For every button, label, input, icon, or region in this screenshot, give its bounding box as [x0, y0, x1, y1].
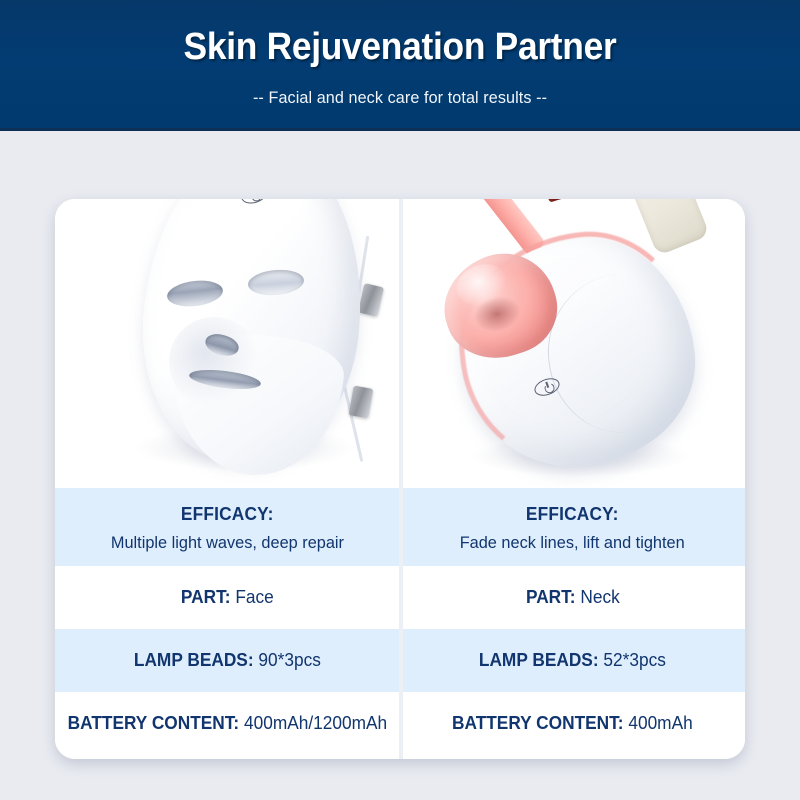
- spec-value: Fade neck lines, lift and tighten: [460, 533, 685, 553]
- spec-row-lamp-beads: LAMP BEADS: 52*3pcs: [400, 629, 745, 692]
- spec-value: 52*3pcs: [604, 650, 666, 670]
- spec-label: PART:: [526, 587, 576, 607]
- strap-clip: [358, 283, 384, 317]
- face-mask-illustration: [93, 199, 423, 499]
- spec-row-part: PART: Face: [55, 566, 400, 629]
- spec-row-efficacy: EFFICACY: Multiple light waves, deep rep…: [55, 488, 400, 566]
- product-column-neck-device: EFFICACY: Fade neck lines, lift and tigh…: [400, 199, 745, 759]
- strap-buckle: [539, 199, 593, 206]
- spec-list-neck-device: EFFICACY: Fade neck lines, lift and tigh…: [400, 488, 745, 759]
- product-column-face-mask: EFFICACY: Multiple light waves, deep rep…: [55, 199, 400, 759]
- spec-inline: BATTERY CONTENT: 400mAh: [452, 713, 693, 734]
- spec-inline: LAMP BEADS: 90*3pcs: [134, 650, 321, 671]
- spec-value: Face: [235, 587, 273, 607]
- spec-inline: BATTERY CONTENT: 400mAh/1200mAh: [68, 713, 387, 734]
- spec-row-lamp-beads: LAMP BEADS: 90*3pcs: [55, 629, 400, 692]
- column-divider: [399, 199, 403, 759]
- product-image-neck-device: [400, 199, 745, 488]
- spec-value: 90*3pcs: [259, 650, 321, 670]
- spec-row-part: PART: Neck: [400, 566, 745, 629]
- spec-row-efficacy: EFFICACY: Fade neck lines, lift and tigh…: [400, 488, 745, 566]
- spec-list-face-mask: EFFICACY: Multiple light waves, deep rep…: [55, 488, 400, 759]
- spec-value: 400mAh: [628, 713, 692, 733]
- page-header: Skin Rejuvenation Partner -- Facial and …: [0, 0, 800, 131]
- spec-label: PART:: [181, 587, 231, 607]
- product-comparison-card: EFFICACY: Multiple light waves, deep rep…: [55, 199, 745, 759]
- spec-label: LAMP BEADS:: [134, 650, 254, 670]
- spec-value: 400mAh/1200mAh: [244, 713, 387, 733]
- spec-value: Neck: [580, 587, 619, 607]
- spec-row-battery-content: BATTERY CONTENT: 400mAh: [400, 692, 745, 755]
- page-title: Skin Rejuvenation Partner: [28, 26, 772, 69]
- spec-label: LAMP BEADS:: [479, 650, 599, 670]
- spec-label: BATTERY CONTENT:: [452, 713, 624, 733]
- spec-label: BATTERY CONTENT:: [68, 713, 240, 733]
- page-subtitle: -- Facial and neck care for total result…: [20, 88, 780, 108]
- spec-label: EFFICACY:: [181, 504, 274, 525]
- spec-inline: PART: Neck: [526, 587, 620, 608]
- product-image-face-mask: [55, 199, 400, 488]
- spec-value: Multiple light waves, deep repair: [111, 533, 344, 553]
- spec-inline: PART: Face: [181, 587, 274, 608]
- mask-cheek-shading: [169, 317, 259, 407]
- spec-label: EFFICACY:: [526, 504, 619, 525]
- spec-inline: LAMP BEADS: 52*3pcs: [479, 650, 666, 671]
- spec-row-battery-content: BATTERY CONTENT: 400mAh/1200mAh: [55, 692, 400, 755]
- strap-clip: [349, 385, 374, 418]
- neck-device-illustration: [416, 199, 745, 497]
